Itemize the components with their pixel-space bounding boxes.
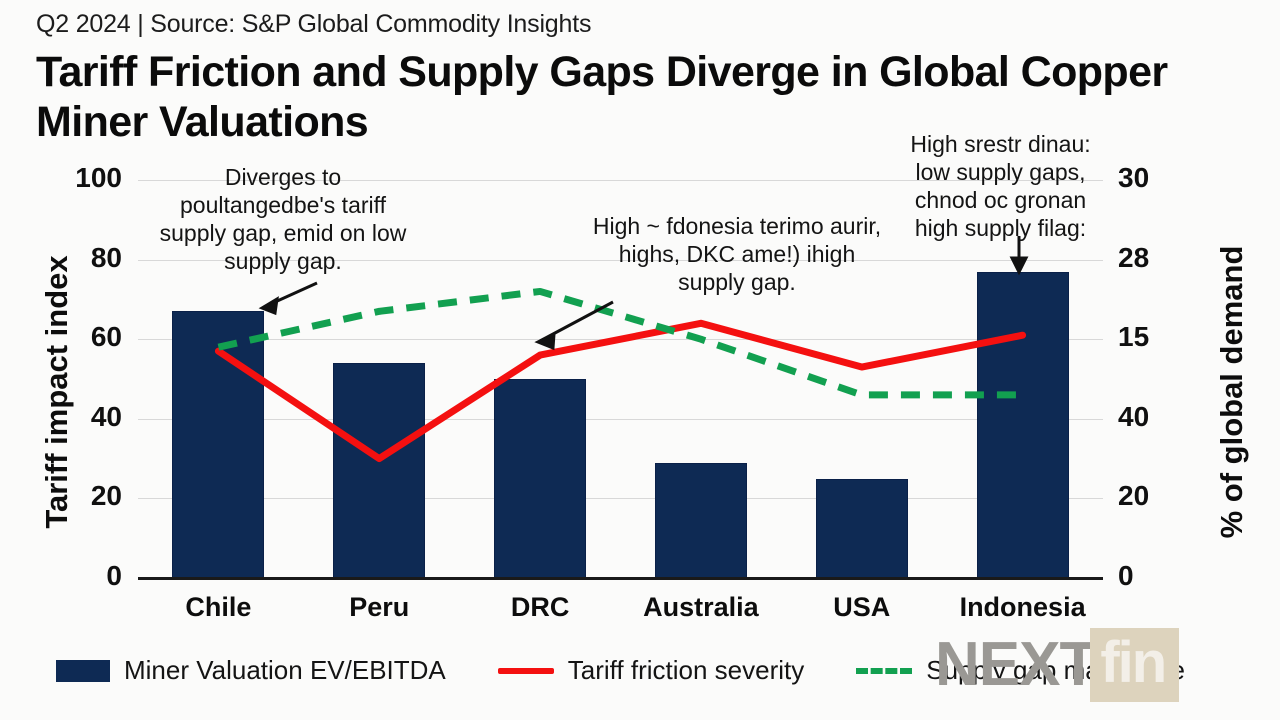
y-tick-label-right: 30 <box>1118 162 1188 194</box>
legend-label: Supply gap magnitude <box>926 655 1185 686</box>
gridline <box>138 498 1103 499</box>
y-tick-label-right: 15 <box>1118 321 1188 353</box>
y-tick-label-right: 28 <box>1118 242 1188 274</box>
x-axis-line <box>138 577 1103 580</box>
annotation-chile: Diverges to poultangedbe's tariff supply… <box>152 163 414 275</box>
y-tick-label-left: 100 <box>26 162 122 194</box>
y-tick-label-left: 40 <box>26 401 122 433</box>
source-kicker: Q2 2024 | Source: S&P Global Commodity I… <box>36 10 591 39</box>
y-tick-label-left: 0 <box>26 560 122 592</box>
y-tick-label-right: 0 <box>1118 560 1188 592</box>
annotation-drc: High ~ fdonesia terimo aurir, highs, DKC… <box>592 212 882 296</box>
y-tick-label-right: 20 <box>1118 480 1188 512</box>
legend-dashed-line-icon <box>856 668 912 674</box>
y-axis-title-right: % of global demand <box>1214 182 1250 602</box>
bar <box>816 479 908 579</box>
x-axis-label: Indonesia <box>913 592 1133 623</box>
legend-item[interactable]: Miner Valuation EV/EBITDA <box>56 655 446 686</box>
y-tick-label-left: 20 <box>26 480 122 512</box>
legend-item[interactable]: Supply gap magnitude <box>856 655 1185 686</box>
legend-label: Miner Valuation EV/EBITDA <box>124 655 446 686</box>
bar <box>172 311 264 578</box>
y-tick-label-left: 80 <box>26 242 122 274</box>
y-tick-label-right: 40 <box>1118 401 1188 433</box>
gridline <box>138 339 1103 340</box>
bar <box>333 363 425 578</box>
legend-solid-line-icon <box>498 668 554 674</box>
bar <box>655 463 747 578</box>
chart-legend: Miner Valuation EV/EBITDATariff friction… <box>56 655 1236 686</box>
gridline <box>138 419 1103 420</box>
y-tick-label-left: 60 <box>26 321 122 353</box>
bar <box>977 272 1069 578</box>
legend-item[interactable]: Tariff friction severity <box>498 655 804 686</box>
annotation-indonesia: High srestr dinau: low supply gaps, chno… <box>893 130 1108 242</box>
bar <box>494 379 586 578</box>
legend-label: Tariff friction severity <box>568 655 804 686</box>
legend-square-icon <box>56 660 110 682</box>
